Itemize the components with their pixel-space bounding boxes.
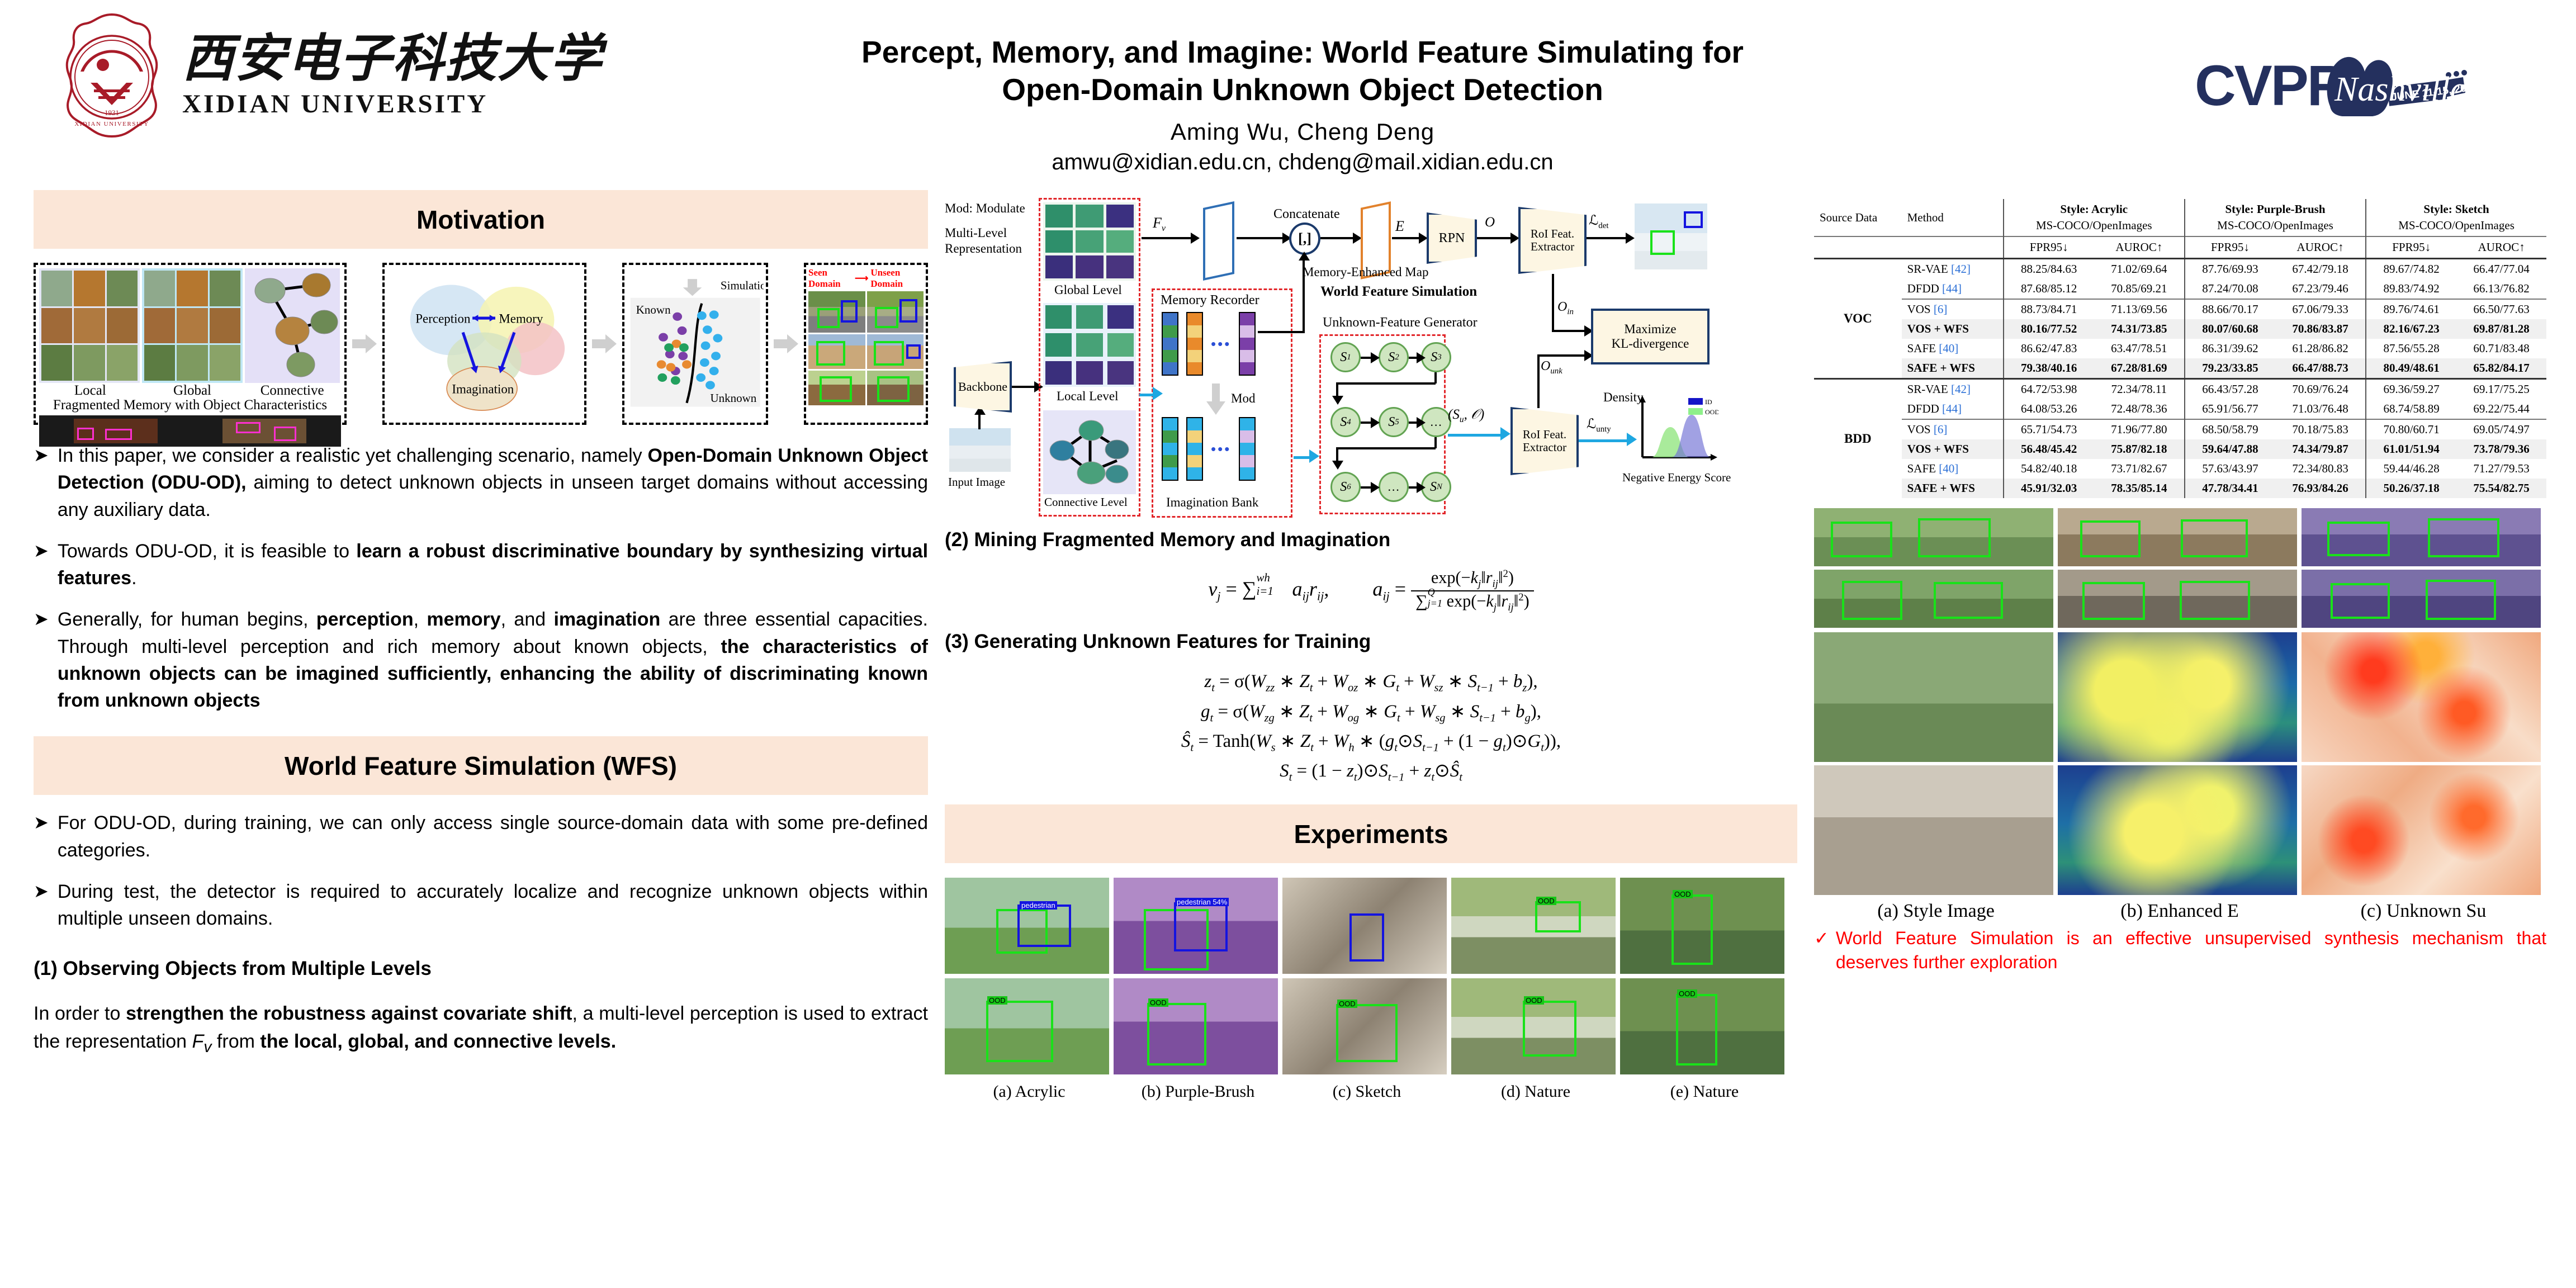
- td-value: 69.17/75.25: [2456, 379, 2546, 400]
- label-o-unk: Ounk: [1541, 359, 1562, 376]
- td-value: 80.07/60.68: [2185, 319, 2275, 339]
- exp-image: [1282, 878, 1447, 974]
- visualization-captions: (a) Style Image(b) Enhanced E(c) Unknown…: [1814, 901, 2546, 922]
- td-value: 72.34/80.83: [2275, 459, 2366, 479]
- table-row: VOS [6]88.73/84.7171.13/69.5688.66/70.17…: [1814, 299, 2546, 319]
- td-value: 66.50/77.63: [2456, 299, 2546, 319]
- energy-density-plot: ID OOD: [1636, 395, 1718, 467]
- td-value: 87.56/55.28: [2366, 339, 2456, 358]
- td-value: 70.69/76.24: [2275, 379, 2366, 400]
- table-row: SAFE + WFS45.91/32.0378.35/85.1447.78/34…: [1814, 479, 2546, 498]
- vis-caption: (b) Enhanced E: [2058, 901, 2302, 922]
- vis-caption: (a) Style Image: [1814, 901, 2058, 922]
- td-value: 66.13/76.82: [2456, 279, 2546, 299]
- td-value: 80.16/77.52: [2004, 319, 2094, 339]
- svg-text:CVPR: CVPR: [2195, 54, 2347, 117]
- legend-ood-text: OOD: [1705, 408, 1718, 416]
- brain-panel: Perception Memory Imagination: [382, 263, 586, 425]
- label-local: Local: [39, 383, 141, 399]
- exp-caption: (a) Acrylic: [945, 1082, 1114, 1101]
- table-row: BDDSR-VAE [42]64.72/53.9872.34/78.1166.4…: [1814, 379, 2546, 400]
- td-value: 60.71/83.48: [2456, 339, 2546, 358]
- label-global-level: Global Level: [1054, 283, 1122, 297]
- xidian-seal-icon: 1931 XIDIAN UNIVERSITY: [56, 11, 168, 140]
- global-level-tiles: [1043, 202, 1136, 281]
- brain-diagram-icon: Perception Memory Imagination: [387, 267, 582, 420]
- vis-image: [2302, 570, 2541, 628]
- td-value: 66.47/88.73: [2275, 358, 2366, 379]
- experiment-captions: (a) Acrylic(b) Purple-Brush(c) Sketch(d)…: [945, 1082, 1797, 1101]
- td-value: 71.96/77.80: [2094, 419, 2185, 439]
- subsection-1-paragraph: In order to strengthen the robustness ag…: [34, 1000, 928, 1058]
- td-value: 76.93/84.26: [2275, 479, 2366, 498]
- table-row: SAFE + WFS79.38/40.1667.28/81.6979.23/33…: [1814, 358, 2546, 379]
- exp-image: pedestrian 54%: [1114, 878, 1278, 974]
- connective-graph: [245, 268, 340, 383]
- td-method: SAFE + WFS: [1902, 358, 2004, 379]
- label-multi-level-1: Multi-Level: [945, 226, 1007, 240]
- bullet-text: Generally, for human begins, perception,…: [58, 606, 928, 714]
- equation-gru-line-3: Ŝt = Tanh(Ws ∗ Zt + Wh ∗ (gt⊙St−1 + (1 −…: [945, 727, 1797, 757]
- emails: amwu@xidian.edu.cn, chdeng@mail.xidian.e…: [771, 150, 1834, 175]
- left-column: Motivation: [34, 190, 928, 1059]
- exp-image: OOD: [945, 978, 1109, 1074]
- label-imagination-bank: Imagination Bank: [1166, 495, 1258, 510]
- svg-text:Memory: Memory: [499, 312, 543, 326]
- td-value: 87.68/85.12: [2004, 279, 2094, 299]
- th-dataset: MS-COCO/OpenImages: [2185, 217, 2366, 236]
- td-value: 57.63/43.97: [2185, 459, 2275, 479]
- results-table: Source DataMethodStyle: AcrylicStyle: Pu…: [1814, 199, 2546, 498]
- right-column: Source DataMethodStyle: AcrylicStyle: Pu…: [1814, 199, 2546, 974]
- td-value: 64.08/53.26: [2004, 399, 2094, 419]
- td-value: 59.44/46.28: [2366, 459, 2456, 479]
- roi-extractor-1: RoI Feat. Extractor: [1518, 207, 1587, 274]
- detection-sample: [808, 291, 865, 333]
- bullet-text: In this paper, we consider a realistic y…: [58, 442, 928, 523]
- fragmented-memory-panel: Local Global Connective Fragmented Memor…: [34, 263, 347, 425]
- td-value: 66.47/77.04: [2456, 259, 2546, 280]
- vis-image: [2058, 508, 2297, 566]
- bullet-arrow-icon: ➤: [34, 442, 49, 523]
- label-memory-enhanced-map: Memory-Enhanced Map: [1303, 265, 1428, 280]
- bullet-text: For ODU-OD, during training, we can only…: [58, 809, 928, 864]
- td-value: 70.85/69.21: [2094, 279, 2185, 299]
- td-value: 86.31/39.62: [2185, 339, 2275, 358]
- th-style-group: Style: Purple-Brush: [2185, 199, 2366, 217]
- label-mod-modulate: Mod: Modulate: [945, 201, 1025, 216]
- td-value: 79.23/33.85: [2185, 358, 2275, 379]
- exp-image: OOD: [1114, 978, 1278, 1074]
- style-image: [1814, 632, 2053, 762]
- s-node-dots: …: [1379, 472, 1409, 502]
- svg-text:Known: Known: [636, 303, 671, 316]
- td-value: 72.34/78.11: [2094, 379, 2185, 400]
- enhanced-heatmap: [2058, 765, 2297, 895]
- equation-gru-line-4: St = (1 − zt)⊙St−1 + zt⊙Ŝt: [945, 757, 1797, 787]
- conclusion-block: ✓ World Feature Simulation is an effecti…: [1814, 926, 2546, 974]
- subsection-2-title: (2) Mining Fragmented Memory and Imagina…: [945, 529, 1797, 551]
- th-method: Method: [1902, 199, 2004, 236]
- label-mod: Mod: [1231, 391, 1255, 406]
- det-label: pedestrian 54%: [1175, 898, 1229, 906]
- detection-sample: [867, 291, 924, 333]
- feature-slab: [1203, 201, 1234, 281]
- td-value: 67.28/81.69: [2094, 358, 2185, 379]
- th-dataset: MS-COCO/OpenImages: [2366, 217, 2546, 236]
- concat-node: [,]: [1289, 222, 1320, 255]
- subsection-3-title: (3) Generating Unknown Features for Trai…: [945, 631, 1797, 653]
- th-style-group: Style: Sketch: [2366, 199, 2546, 217]
- motivation-figure: Local Global Connective Fragmented Memor…: [34, 260, 928, 428]
- connective-level-graph: [1043, 410, 1136, 494]
- equation-attention: vj = ∑whi=1 aijrij, aij = exp(−kj‖rij‖2)…: [945, 568, 1797, 614]
- td-method: VOS [6]: [1902, 299, 2004, 319]
- td-value: 73.78/79.36: [2456, 439, 2546, 459]
- td-value: 59.64/47.88: [2185, 439, 2275, 459]
- wfs-bullets: ➤For ODU-OD, during training, we can onl…: [34, 809, 928, 932]
- visualization-grid: (a) Style Image(b) Enhanced E(c) Unknown…: [1814, 508, 2546, 922]
- university-name-en: XIDIAN UNIVERSITY: [182, 89, 488, 119]
- legend-id-text: ID: [1705, 398, 1712, 406]
- university-name-cn: 西安电子科技大学: [182, 32, 603, 86]
- s-node-2: S2: [1379, 342, 1409, 372]
- td-value: 65.91/56.77: [2185, 399, 2275, 419]
- s-node-ellipsis: …: [1421, 407, 1451, 437]
- svg-text:1931: 1931: [105, 108, 119, 117]
- exp-image: OOD: [1451, 978, 1616, 1074]
- td-value: 47.78/34.41: [2185, 479, 2275, 498]
- td-value: 71.13/69.56: [2094, 299, 2185, 319]
- motivation-bullets: ➤In this paper, we consider a realistic …: [34, 442, 928, 714]
- td-value: 66.43/57.28: [2185, 379, 2275, 400]
- exp-caption: (d) Nature: [1451, 1082, 1620, 1101]
- table-row: DFDD [44]87.68/85.1270.85/69.2187.24/70.…: [1814, 279, 2546, 299]
- td-value: 68.74/58.89: [2366, 399, 2456, 419]
- th-metric: FPR95↓: [2004, 236, 2094, 259]
- vis-image: [2058, 570, 2297, 628]
- td-value: 70.86/83.87: [2275, 319, 2366, 339]
- s-node-3: S3: [1421, 342, 1451, 372]
- td-value: 65.82/84.17: [2456, 358, 2546, 379]
- label-seen-domain: Seen Domain: [808, 267, 853, 290]
- td-value: 69.87/81.28: [2456, 319, 2546, 339]
- conclusion-text: World Feature Simulation is an effective…: [1836, 926, 2546, 974]
- td-value: 75.54/82.75: [2456, 479, 2546, 498]
- label-memory-recorder: Memory Recorder: [1161, 293, 1259, 308]
- td-value: 89.67/74.82: [2366, 259, 2456, 280]
- label-fv: Fv: [1153, 215, 1166, 234]
- unknown-heatmap: [2302, 632, 2541, 762]
- authors: Aming Wu, Cheng Deng: [771, 119, 1834, 145]
- td-method: SR-VAE [42]: [1902, 259, 2004, 280]
- exp-image: OOD: [1282, 978, 1447, 1074]
- vis-image: [1814, 508, 2053, 566]
- roi-extractor-2: RoI Feat. Extractor: [1510, 407, 1579, 475]
- bullet-item: ➤Generally, for human begins, perception…: [34, 606, 928, 714]
- check-icon: ✓: [1814, 926, 1829, 974]
- vis-caption: (c) Unknown Su: [2302, 901, 2545, 922]
- td-method: SAFE + WFS: [1902, 479, 2004, 498]
- label-l-unty: ℒunty: [1587, 416, 1611, 434]
- table-row: VOS + WFS80.16/77.5274.31/73.8580.07/60.…: [1814, 319, 2546, 339]
- ellipsis-icon: •••: [1211, 335, 1231, 353]
- paper-title-line1: Percept, Memory, and Imagine: World Feat…: [771, 34, 1834, 71]
- td-value: 68.50/58.79: [2185, 419, 2275, 439]
- label-unseen-domain: Unseen Domain: [870, 267, 924, 290]
- td-source: VOC: [1814, 259, 1902, 379]
- td-value: 69.05/74.97: [2456, 419, 2546, 439]
- td-value: 61.01/51.94: [2366, 439, 2456, 459]
- td-value: 50.26/37.18: [2366, 479, 2456, 498]
- td-value: 54.82/40.18: [2004, 459, 2094, 479]
- label-o: O: [1485, 215, 1495, 230]
- det-label: pedestrian: [1020, 901, 1057, 910]
- cvpr-logo: CVPR Nashville JUNE 11-15, 2025: [2190, 39, 2542, 123]
- exp-caption: (b) Purple-Brush: [1114, 1082, 1282, 1101]
- svg-text:Simulation: Simulation: [721, 279, 764, 292]
- filmstrip: [39, 415, 341, 447]
- td-value: 89.76/74.61: [2366, 299, 2456, 319]
- td-value: 67.23/79.46: [2275, 279, 2366, 299]
- input-image-thumb: [949, 428, 1011, 472]
- td-value: 71.03/76.48: [2275, 399, 2366, 419]
- td-value: 75.87/82.18: [2094, 439, 2185, 459]
- bullet-item: ➤For ODU-OD, during training, we can onl…: [34, 809, 928, 864]
- det-label: OOD: [1673, 890, 1693, 898]
- label-local-level: Local Level: [1057, 389, 1118, 404]
- enhanced-heatmap: [2058, 632, 2297, 762]
- table-row: SAFE [40]86.62/47.8363.47/78.5186.31/39.…: [1814, 339, 2546, 358]
- vis-image: [2302, 508, 2541, 566]
- td-value: 56.48/45.42: [2004, 439, 2094, 459]
- backbone-block: Backbone: [954, 361, 1012, 413]
- seen-unseen-panel: Seen Domain ⟶ Unseen Domain: [804, 263, 928, 425]
- ellipsis-icon: •••: [1211, 441, 1231, 458]
- td-value: 87.24/70.08: [2185, 279, 2275, 299]
- section-header-motivation: Motivation: [34, 190, 928, 249]
- s-node-5: S5: [1379, 407, 1409, 437]
- experiment-image-grid: pedestrian pedestrian 54% OOD OOD: [945, 878, 1797, 1101]
- td-value: 65.71/54.73: [2004, 419, 2094, 439]
- exp-image: OOD: [1620, 978, 1784, 1074]
- label-o-in: Oin: [1557, 300, 1574, 317]
- label-l-det: ℒdet: [1589, 212, 1608, 231]
- xidian-logo: 1931 XIDIAN UNIVERSITY 西安电子科技大学 XIDIAN U…: [56, 11, 603, 140]
- detection-sample: [867, 371, 924, 405]
- table-row: SAFE [40]54.82/40.1873.71/82.6757.63/43.…: [1814, 459, 2546, 479]
- label-connective-level: Connective Level: [1044, 495, 1128, 509]
- bullet-arrow-icon: ➤: [34, 538, 49, 592]
- label-e: E: [1395, 218, 1404, 235]
- td-value: 87.76/69.93: [2185, 259, 2275, 280]
- subsection-1-title: (1) Observing Objects from Multiple Leve…: [34, 958, 928, 980]
- td-method: VOS + WFS: [1902, 439, 2004, 459]
- td-method: DFDD [44]: [1902, 279, 2004, 299]
- td-value: 63.47/78.51: [2094, 339, 2185, 358]
- td-value: 69.36/59.27: [2366, 379, 2456, 400]
- global-tiles: [142, 268, 243, 383]
- exp-caption: (e) Nature: [1620, 1082, 1789, 1101]
- td-value: 82.16/67.23: [2366, 319, 2456, 339]
- detection-sample: [867, 334, 924, 369]
- s-node-n: SN: [1421, 472, 1451, 502]
- td-value: 71.02/69.64: [2094, 259, 2185, 280]
- svg-text:XIDIAN UNIVERSITY: XIDIAN UNIVERSITY: [74, 121, 149, 127]
- middle-column: Mod: Modulate Multi-Level Representation…: [945, 190, 1797, 1101]
- bullet-item: ➤In this paper, we consider a realistic …: [34, 442, 928, 523]
- det-label: OOD: [1536, 897, 1556, 905]
- td-value: 45.91/32.03: [2004, 479, 2094, 498]
- local-tiles: [39, 268, 140, 383]
- td-method: SAFE [40]: [1902, 459, 2004, 479]
- td-value: 89.83/74.92: [2366, 279, 2456, 299]
- th-source-data: Source Data: [1814, 199, 1902, 236]
- table-row: DFDD [44]64.08/53.2672.48/78.3665.91/56.…: [1814, 399, 2546, 419]
- exp-image: pedestrian: [945, 878, 1109, 974]
- det-label: OOD: [1524, 996, 1544, 1005]
- equation-gru: zt = σ(Wzz ∗ Zt + Woz ∗ Gt + Wsz ∗ St−1 …: [945, 667, 1797, 787]
- equation-gru-line-2: gt = σ(Wzg ∗ Zt + Wog ∗ Gt + Wsg ∗ St−1 …: [945, 698, 1797, 727]
- flow-arrow-1-icon: [352, 334, 377, 353]
- poster-root: 1931 XIDIAN UNIVERSITY 西安电子科技大学 XIDIAN U…: [0, 0, 2576, 1288]
- flow-arrow-3-icon: [774, 334, 798, 353]
- svg-text:Unknown: Unknown: [710, 391, 756, 405]
- td-value: 64.72/53.98: [2004, 379, 2094, 400]
- table-row: VOS [6]65.71/54.7371.96/77.8068.50/58.79…: [1814, 419, 2546, 439]
- label-global: Global: [141, 383, 244, 399]
- td-method: VOS + WFS: [1902, 319, 2004, 339]
- section-header-wfs: World Feature Simulation (WFS): [34, 736, 928, 795]
- th-dataset: MS-COCO/OpenImages: [2004, 217, 2185, 236]
- label-negative-energy: Negative Energy Score: [1622, 471, 1731, 485]
- td-value: 86.62/47.83: [2004, 339, 2094, 358]
- memory-bank-columns: •••: [1162, 312, 1256, 376]
- th-metric: FPR95↓: [2366, 236, 2456, 259]
- bullet-text: Towards ODU-OD, it is feasible to learn …: [58, 538, 928, 592]
- td-value: 88.73/84.71: [2004, 299, 2094, 319]
- td-value: 69.22/75.44: [2456, 399, 2546, 419]
- known-unknown-panel: Simulation Known Unknown: [622, 263, 768, 425]
- det-label: OOD: [1677, 989, 1697, 998]
- label-su-o: (Su, 𝒪): [1448, 407, 1484, 425]
- s-node-6: S6: [1330, 472, 1361, 502]
- title-block: Percept, Memory, and Imagine: World Feat…: [771, 34, 1834, 175]
- th-metric: FPR95↓: [2185, 236, 2275, 259]
- label-unknown-feature-generator: Unknown-Feature Generator: [1323, 315, 1478, 330]
- td-value: 70.18/75.83: [2275, 419, 2366, 439]
- td-value: 72.48/78.36: [2094, 399, 2185, 419]
- td-method: SR-VAE [42]: [1902, 379, 2004, 400]
- td-method: SAFE [40]: [1902, 339, 2004, 358]
- s-node-4: S4: [1330, 407, 1361, 437]
- detection-result-image: [1635, 203, 1707, 269]
- s-node-1: S1: [1330, 342, 1361, 372]
- th-style-group: Style: Acrylic: [2004, 199, 2185, 217]
- label-multi-level-2: Representation: [945, 241, 1022, 256]
- exp-image: OOD: [1620, 878, 1784, 974]
- equation-gru-line-1: zt = σ(Wzz ∗ Zt + Woz ∗ Gt + Wsz ∗ St−1 …: [945, 667, 1797, 697]
- th-metric: AUROC↑: [2275, 236, 2366, 259]
- td-value: 61.28/86.82: [2275, 339, 2366, 358]
- label-connective: Connective: [243, 383, 341, 399]
- th-metric: AUROC↑: [2094, 236, 2185, 259]
- td-value: 88.25/84.63: [2004, 259, 2094, 280]
- label-input-image: Input Image: [948, 475, 1005, 489]
- td-value: 70.80/60.71: [2366, 419, 2456, 439]
- table-row: VOS + WFS56.48/45.4275.87/82.1859.64/47.…: [1814, 439, 2546, 459]
- td-value: 67.42/79.18: [2275, 259, 2366, 280]
- label-world-feature-simulation: World Feature Simulation: [1320, 284, 1477, 300]
- bullet-item: ➤Towards ODU-OD, it is feasible to learn…: [34, 538, 928, 592]
- section-header-experiments: Experiments: [945, 804, 1797, 863]
- arrow-icon: ⟶: [855, 273, 868, 284]
- mod-arrow-icon: [1206, 383, 1225, 415]
- architecture-diagram: Mod: Modulate Multi-Level Representation…: [945, 193, 1797, 523]
- det-label: OOD: [987, 996, 1007, 1005]
- det-label: OOD: [1337, 1000, 1357, 1008]
- detection-sample: [808, 334, 865, 369]
- flow-arrow-2-icon: [592, 334, 617, 353]
- bullet-arrow-icon: ➤: [34, 809, 49, 864]
- rpn-block: RPN: [1427, 212, 1477, 264]
- td-value: 78.35/85.14: [2094, 479, 2185, 498]
- detection-sample: [808, 371, 865, 405]
- table-row: VOCSR-VAE [42]88.25/84.6371.02/69.6487.7…: [1814, 259, 2546, 280]
- unknown-heatmap: [2302, 765, 2541, 895]
- td-value: 88.66/70.17: [2185, 299, 2275, 319]
- svg-text:Imagination: Imagination: [452, 382, 514, 396]
- det-label: OOD: [1148, 998, 1168, 1007]
- exp-image: OOD: [1451, 878, 1616, 974]
- paper-title-line2: Open-Domain Unknown Object Detection: [771, 71, 1834, 108]
- svg-text:Perception: Perception: [415, 312, 471, 326]
- imagination-bank-columns: •••: [1162, 417, 1256, 481]
- td-value: 71.27/79.53: [2456, 459, 2546, 479]
- th-metric: AUROC↑: [2456, 236, 2546, 259]
- local-level-tiles: [1043, 303, 1136, 387]
- vis-image: [1814, 570, 2053, 628]
- poster-header: 1931 XIDIAN UNIVERSITY 西安电子科技大学 XIDIAN U…: [0, 0, 2576, 190]
- td-value: 67.06/79.33: [2275, 299, 2366, 319]
- td-value: 74.34/79.87: [2275, 439, 2366, 459]
- simulation-scatter: Simulation Known Unknown: [627, 267, 764, 420]
- kl-divergence-box: Maximize KL-divergence: [1591, 309, 1710, 364]
- bullet-arrow-icon: ➤: [34, 878, 49, 932]
- exp-caption: (c) Sketch: [1282, 1082, 1451, 1101]
- label-kl-divergence: KL-divergence: [1612, 337, 1689, 351]
- td-method: VOS [6]: [1902, 419, 2004, 439]
- td-value: 73.71/82.67: [2094, 459, 2185, 479]
- label-concatenate: Concatenate: [1273, 207, 1340, 222]
- bullet-item: ➤During test, the detector is required t…: [34, 878, 928, 932]
- td-method: DFDD [44]: [1902, 399, 2004, 419]
- caption-fragmented-memory: Fragmented Memory with Object Characteri…: [39, 397, 341, 413]
- td-value: 74.31/73.85: [2094, 319, 2185, 339]
- style-image: [1814, 765, 2053, 895]
- bullet-text: During test, the detector is required to…: [58, 878, 928, 932]
- td-value: 79.38/40.16: [2004, 358, 2094, 379]
- td-value: 80.49/48.61: [2366, 358, 2456, 379]
- label-maximize: Maximize: [1624, 322, 1676, 337]
- td-source: BDD: [1814, 379, 1902, 499]
- bullet-arrow-icon: ➤: [34, 606, 49, 714]
